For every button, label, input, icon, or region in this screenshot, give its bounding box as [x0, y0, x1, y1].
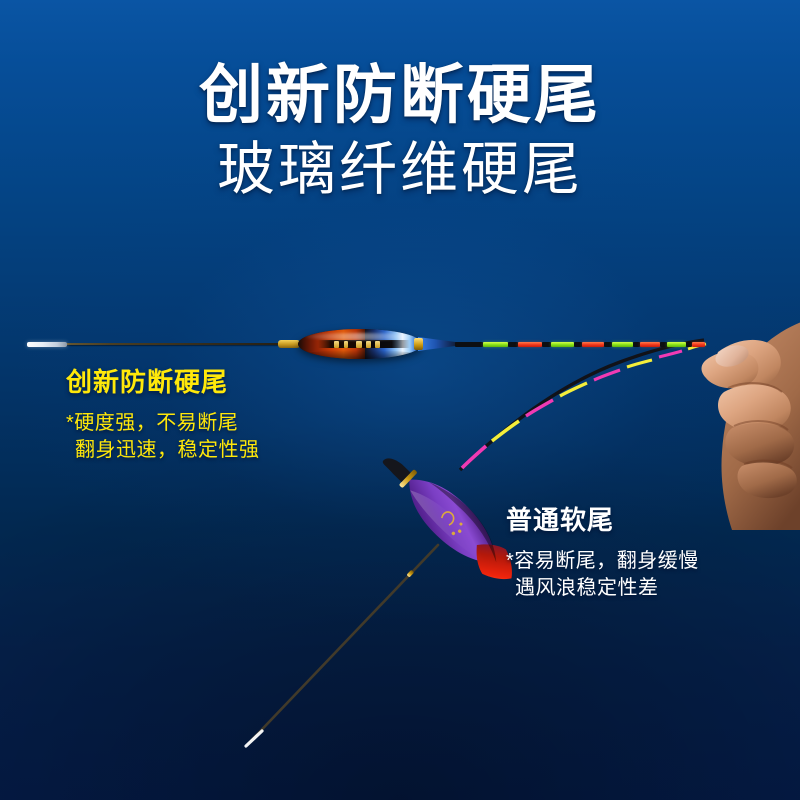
curved-float-body: [372, 442, 526, 593]
tail-segment-black: [542, 342, 551, 347]
curved-float-stem: [246, 545, 438, 746]
annotation-right: 普通软尾*容易断尾，翻身缓慢遇风浪稳定性差: [506, 504, 699, 602]
straight-float-lower-ring: [278, 340, 300, 348]
hard-tail-float-straight: [0, 318, 740, 370]
annotation-right-body: *容易断尾，翻身缓慢遇风浪稳定性差: [506, 548, 699, 602]
body-logo-mark: [356, 341, 362, 348]
tail-segment-black: [633, 342, 640, 347]
tail-segment-black: [660, 342, 667, 347]
straight-float-stem: [28, 343, 304, 345]
tail-segment-black: [604, 342, 612, 347]
body-logo-mark: [344, 341, 348, 348]
annotation-left-title: 创新防断硬尾: [66, 366, 260, 398]
straight-float-tail: [455, 342, 705, 347]
body-core-band: [318, 340, 410, 348]
annotation-left: 创新防断硬尾*硬度强，不易断尾翻身迅速，稳定性强: [66, 366, 260, 464]
annotation-left-body: *硬度强，不易断尾翻身迅速，稳定性强: [66, 410, 260, 464]
tail-segment-black: [574, 342, 582, 347]
tail-segment-green: [551, 342, 574, 347]
tail-segment-orange: [582, 342, 604, 347]
headline-line-1: 创新防断硬尾: [0, 58, 800, 132]
headline-block: 创新防断硬尾 玻璃纤维硬尾: [0, 58, 800, 204]
tail-segment-green: [667, 342, 686, 347]
body-logo-mark: [375, 341, 380, 348]
tail-segment-orange: [518, 342, 542, 347]
annotation-right-line: *容易断尾，翻身缓慢: [506, 548, 699, 575]
body-logo-mark: [334, 341, 339, 348]
product-ad-canvas: 创新防断硬尾 玻璃纤维硬尾: [0, 0, 800, 800]
tail-segment-orange: [640, 342, 660, 347]
hand-holding-floats: [688, 300, 800, 530]
tail-segment-black: [455, 342, 483, 347]
straight-float-upper-ring: [414, 338, 423, 350]
body-logo-mark: [366, 341, 371, 348]
annotation-left-line: *硬度强，不易断尾: [66, 410, 260, 437]
tail-segment-green: [612, 342, 633, 347]
annotation-left-line: 翻身迅速，稳定性强: [66, 437, 260, 464]
body-bottom-shadow: [303, 350, 417, 359]
tail-segment-black: [508, 342, 518, 347]
body-gloss-highlight: [305, 333, 414, 340]
tail-segment-green: [483, 342, 508, 347]
annotation-right-title: 普通软尾: [506, 504, 699, 536]
headline-line-2: 玻璃纤维硬尾: [0, 136, 800, 204]
straight-float-stem-tip: [27, 342, 67, 347]
annotation-right-line: 遇风浪稳定性差: [506, 575, 699, 602]
straight-float-body: [298, 329, 422, 359]
